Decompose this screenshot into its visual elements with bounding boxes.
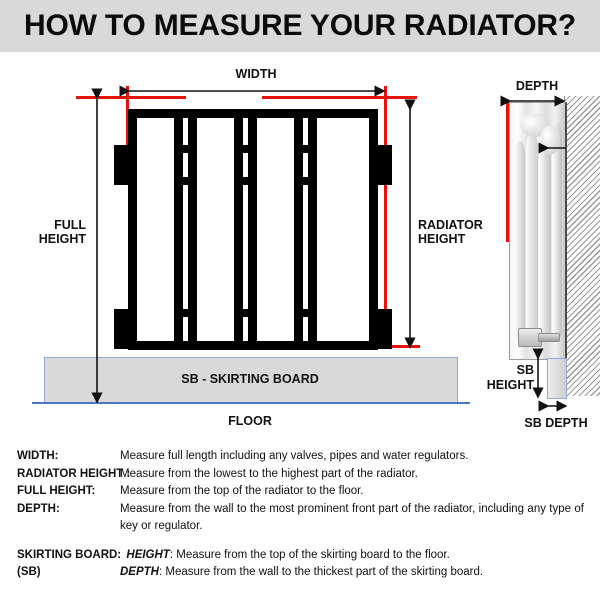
definition-description: Measure from the lowest to the highest p… xyxy=(120,466,600,484)
skirting-definition-row: SKIRTING BOARD: (SB) HEIGHT: Measure fro… xyxy=(0,547,600,582)
infographic-page: HOW TO MEASURE YOUR RADIATOR? xyxy=(0,0,600,600)
definition-term: RADIATOR HEIGHT : xyxy=(0,466,120,484)
definition-term: DEPTH: xyxy=(0,501,120,519)
skirting-height-key: HEIGHT xyxy=(126,549,169,561)
skirting-height-line: HEIGHT: Measure from the top of the skir… xyxy=(120,547,584,565)
definition-row: RADIATOR HEIGHT : Measure from the lowes… xyxy=(0,466,600,484)
definition-row: DEPTH: Measure from the wall to the most… xyxy=(0,501,600,536)
definitions-list: WIDTH: Measure full length including any… xyxy=(0,448,600,582)
definition-description: Measure from the top of the radiator to … xyxy=(120,483,600,501)
skirting-term-line1: SKIRTING BOARD: xyxy=(17,549,121,561)
skirting-height-desc: : Measure from the top of the skirting b… xyxy=(170,549,450,561)
skirting-depth-desc: : Measure from the wall to the thickest … xyxy=(159,566,483,578)
definition-term: WIDTH: xyxy=(0,448,120,466)
skirting-descriptions: HEIGHT: Measure from the top of the skir… xyxy=(120,547,600,582)
definition-description: Measure from the wall to the most promin… xyxy=(120,501,600,536)
definition-term: FULL HEIGHT: xyxy=(0,483,120,501)
measurement-diagram: SB - SKIRTING BOARD FLOOR WIDTH FULL HEI… xyxy=(0,52,600,438)
skirting-term: SKIRTING BOARD: (SB) xyxy=(0,547,120,582)
definition-row: FULL HEIGHT: Measure from the top of the… xyxy=(0,483,600,501)
skirting-depth-line: DEPTH: Measure from the wall to the thic… xyxy=(120,564,584,582)
skirting-depth-key: DEPTH xyxy=(120,566,159,578)
skirting-term-line2: (SB) xyxy=(17,566,41,578)
page-title: HOW TO MEASURE YOUR RADIATOR? xyxy=(0,8,600,44)
definition-row: WIDTH: Measure full length including any… xyxy=(0,448,600,466)
dimension-arrows xyxy=(0,52,600,438)
definitions-spacer xyxy=(0,536,600,547)
definition-description: Measure full length including any valves… xyxy=(120,448,600,466)
